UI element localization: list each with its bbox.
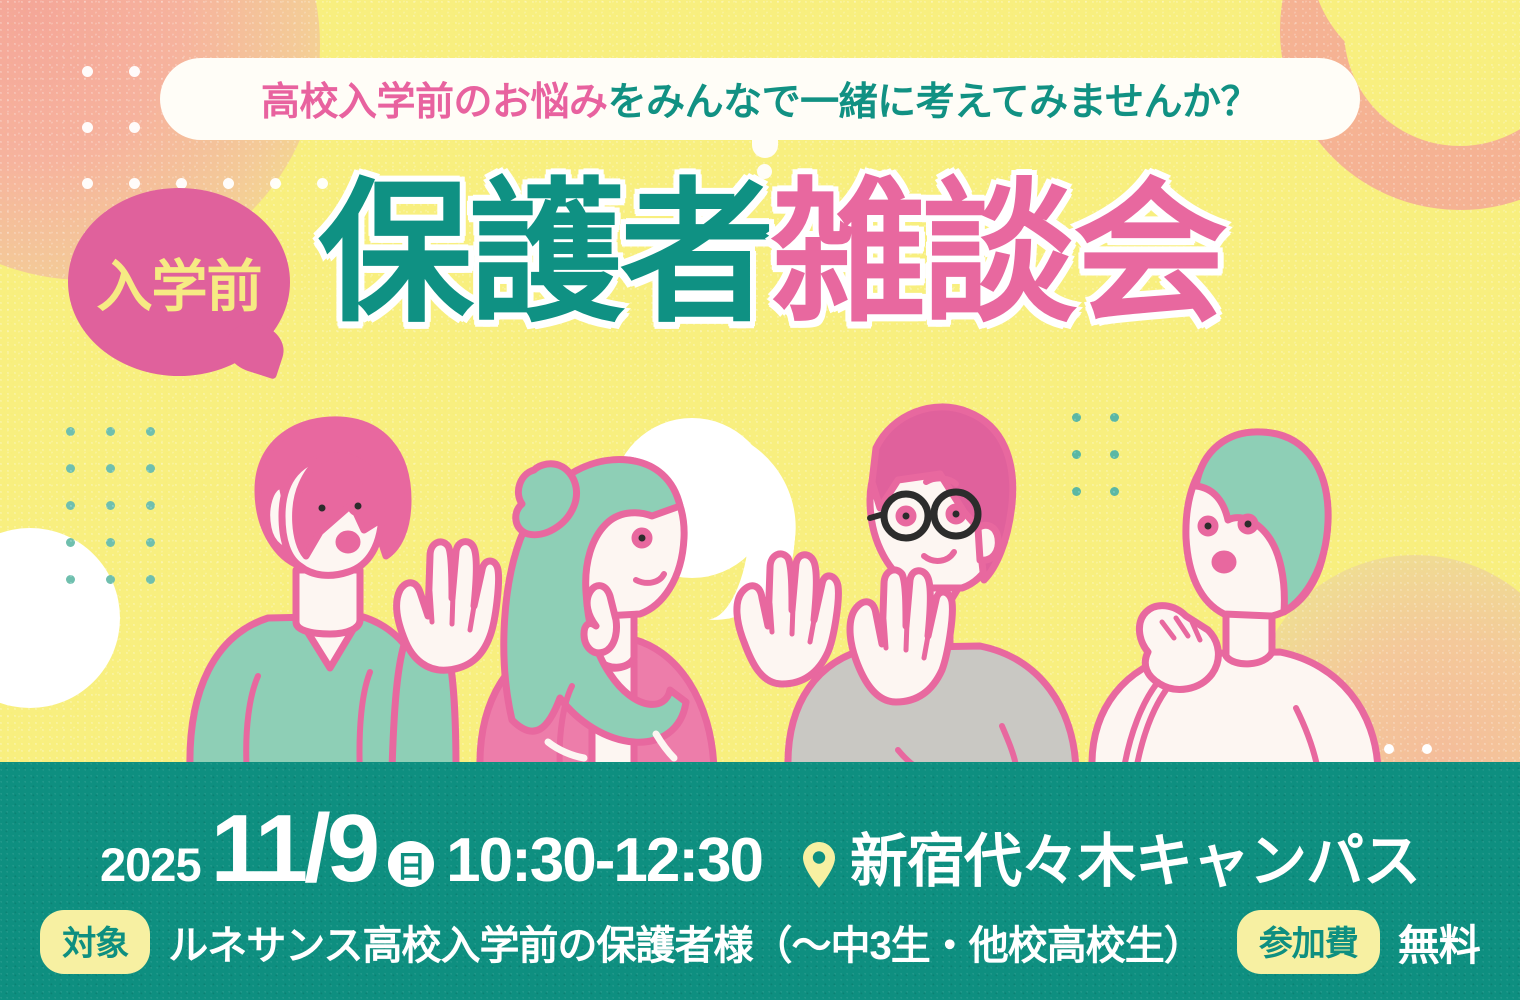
event-time: 10:30-12:30	[446, 825, 762, 896]
target-audience-row: 対象 ルネサンス高校入学前の保護者様（〜中3生・他校高校生） 参加費 無料	[0, 910, 1520, 974]
tagline-speech-bubble: 高校入学前のお悩みをみんなで一緒に考えてみませんか？	[160, 58, 1360, 140]
pre-enrollment-badge-label: 入学前	[97, 242, 262, 323]
speech-bubble-dot	[757, 164, 772, 179]
fee-label-badge: 参加費	[1237, 910, 1380, 974]
event-weekday-badge: 日	[388, 841, 434, 887]
event-month-day: 11/9	[211, 794, 377, 904]
speech-bubble-tail	[752, 136, 778, 158]
pre-enrollment-badge: 入学前	[68, 188, 290, 376]
target-audience-value: ルネサンス高校入学前の保護者様（〜中3生・他校高校生）	[168, 913, 1202, 971]
page-title-part-2: 雑談会	[771, 167, 1224, 340]
tagline-text: 高校入学前のお悩みをみんなで一緒に考えてみませんか？	[261, 71, 1259, 127]
figure-person-long-hair	[480, 460, 714, 770]
event-details-bar: 2025 11/9 日 10:30-12:30 新宿代々木キャンパス 対象 ルネ…	[0, 762, 1520, 1000]
event-year: 2025	[100, 837, 201, 892]
fee-value: 無料	[1398, 912, 1480, 973]
page-title-part-1: 保護者	[318, 167, 771, 340]
figure-person-bob-hair	[1092, 432, 1378, 770]
figure-person-waving	[190, 420, 499, 770]
event-poster: 高校入学前のお悩みをみんなで一緒に考えてみませんか？ 入学前 保護者雑談会 20…	[0, 0, 1520, 1000]
event-venue: 新宿代々木キャンパス	[850, 814, 1420, 898]
target-label-badge: 対象	[40, 910, 150, 974]
tagline-rest: をみんなで一緒に考えてみませんか？	[608, 81, 1259, 124]
tagline-highlight: 高校入学前のお悩み	[261, 81, 608, 124]
page-title: 保護者雑談会	[318, 176, 1224, 331]
people-illustration	[0, 330, 1520, 770]
map-pin-icon	[802, 841, 836, 889]
figure-person-glasses	[737, 407, 1076, 770]
datetime-row: 2025 11/9 日 10:30-12:30 新宿代々木キャンパス	[0, 794, 1520, 904]
